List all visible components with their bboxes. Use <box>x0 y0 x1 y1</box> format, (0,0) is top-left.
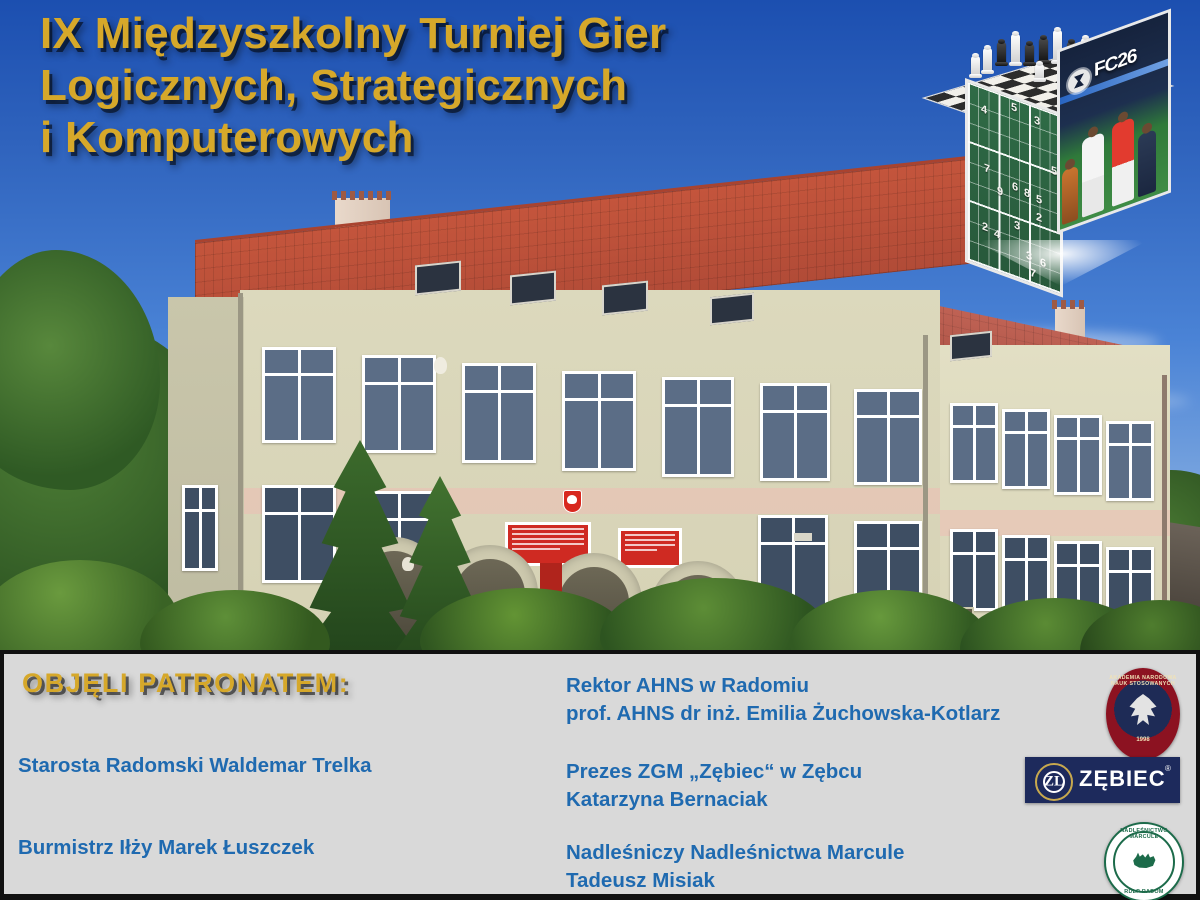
seal-bottom-text: RDLP RADOM <box>1106 889 1182 895</box>
sudoku-number: 2 <box>982 220 988 234</box>
wall-lamp <box>434 357 447 374</box>
window <box>182 485 218 571</box>
chess-piece-white <box>1035 64 1044 80</box>
seal-top-text: AKADEMIA NARODOWA NAUK STOSOWANYCH <box>1106 675 1180 687</box>
eagle-icon <box>1128 694 1158 730</box>
chess-piece-black <box>1039 38 1048 62</box>
patrons-footer: OBJĘLI PATRONATEM: Starosta Radomski Wal… <box>0 650 1200 900</box>
window <box>462 363 536 463</box>
games-cube-graphic: 5 3 4 5 7 6 8 5 9 2 3 2 4 3 6 7 FC26 <box>965 8 1165 278</box>
window <box>262 347 336 443</box>
ahns-seal-logo: AKADEMIA NARODOWA NAUK STOSOWANYCH 1998 <box>1106 668 1180 760</box>
football-player <box>1082 132 1104 218</box>
sudoku-number: 2 <box>1036 211 1042 225</box>
window <box>854 389 922 485</box>
chess-piece-white <box>1011 34 1020 64</box>
sudoku-number: 3 <box>1014 219 1020 233</box>
page-title: IX Międzyszkolny Turniej Gier Logicznych… <box>40 8 900 164</box>
window <box>1054 415 1102 495</box>
patron-name: Katarzyna Bernaciak <box>566 786 862 814</box>
facade-coat-of-arms <box>563 490 582 513</box>
zebiec-logo: ZL ZĘBIEC ® <box>1025 757 1180 803</box>
title-line-2: Logicznych, Strategicznych <box>40 60 900 112</box>
patron-rektor-ahns: Rektor AHNS w Radomiu prof. AHNS dr inż.… <box>566 672 1000 727</box>
seal-top-text: NADLEŚNICTWO MARCULE <box>1106 828 1182 840</box>
window <box>950 403 998 483</box>
title-line-1: IX Międzyszkolny Turniej Gier <box>40 8 900 60</box>
downpipe <box>1162 375 1167 625</box>
sudoku-number: 3 <box>1034 114 1040 128</box>
patron-name: Tadeusz Misiak <box>566 867 904 895</box>
sudoku-number: 5 <box>1036 193 1042 207</box>
sudoku-number: 8 <box>1024 186 1030 200</box>
patron-role: Prezes ZGM „Zębiec“ w Zębcu <box>566 758 862 786</box>
window <box>950 529 998 611</box>
football-player <box>1112 117 1134 207</box>
window <box>362 355 436 453</box>
tree-foliage <box>0 250 160 490</box>
window <box>1106 421 1154 501</box>
zebiec-name: ZĘBIEC <box>1079 766 1166 792</box>
seal-year: 1998 <box>1106 737 1180 743</box>
sudoku-number: 4 <box>994 228 1000 242</box>
chess-piece-white <box>971 56 980 76</box>
sudoku-number: 5 <box>1011 101 1017 115</box>
skylight <box>950 331 992 361</box>
zebiec-monogram-icon: ZL <box>1035 763 1073 801</box>
patron-burmistrz-ilzy: Burmistrz Iłży Marek Łuszczek <box>18 836 314 860</box>
window <box>562 371 636 471</box>
sudoku-number: 9 <box>997 185 1003 199</box>
skylight <box>415 261 461 296</box>
poster: 5 3 4 5 7 6 8 5 9 2 3 2 4 3 6 7 FC26 <box>0 0 1200 900</box>
window <box>760 383 830 481</box>
zebiec-monogram-text: ZL <box>1044 774 1064 791</box>
window <box>262 485 336 583</box>
chess-piece-black <box>997 42 1006 64</box>
chess-piece-white <box>983 48 992 72</box>
sudoku-number: 6 <box>1012 180 1018 194</box>
wall-side <box>168 297 244 627</box>
skylight <box>710 293 754 326</box>
registered-mark: ® <box>1165 764 1171 773</box>
patron-role: Rektor AHNS w Radomiu <box>566 672 1000 700</box>
football-player <box>1138 129 1156 198</box>
title-line-3: i Komputerowych <box>40 112 900 164</box>
sudoku-number: 7 <box>984 162 990 176</box>
patron-name: prof. AHNS dr inż. Emilia Żuchowska-Kotl… <box>566 700 1000 728</box>
marcule-forestry-seal: NADLEŚNICTWO MARCULE RDLP RADOM <box>1104 822 1184 900</box>
chess-piece-black <box>1025 44 1034 64</box>
wall-lamp <box>794 533 812 541</box>
sudoku-number: 4 <box>981 103 987 117</box>
football-player <box>1062 165 1078 225</box>
downpipe <box>923 335 928 635</box>
skylight <box>510 271 556 306</box>
patron-role: Nadleśniczy Nadleśnictwa Marcule <box>566 839 904 867</box>
window <box>1002 409 1050 489</box>
skylight <box>602 281 648 316</box>
patron-prezes-zgm-zebiec: Prezes ZGM „Zębiec“ w Zębcu Katarzyna Be… <box>566 758 862 813</box>
patron-starosta-radomski: Starosta Radomski Waldemar Trelka <box>18 754 372 778</box>
information-plaque <box>618 528 682 568</box>
window <box>662 377 734 477</box>
patron-nadlesniczy-marcule: Nadleśniczy Nadleśnictwa Marcule Tadeusz… <box>566 839 904 894</box>
patrons-heading: OBJĘLI PATRONATEM: <box>22 668 349 699</box>
